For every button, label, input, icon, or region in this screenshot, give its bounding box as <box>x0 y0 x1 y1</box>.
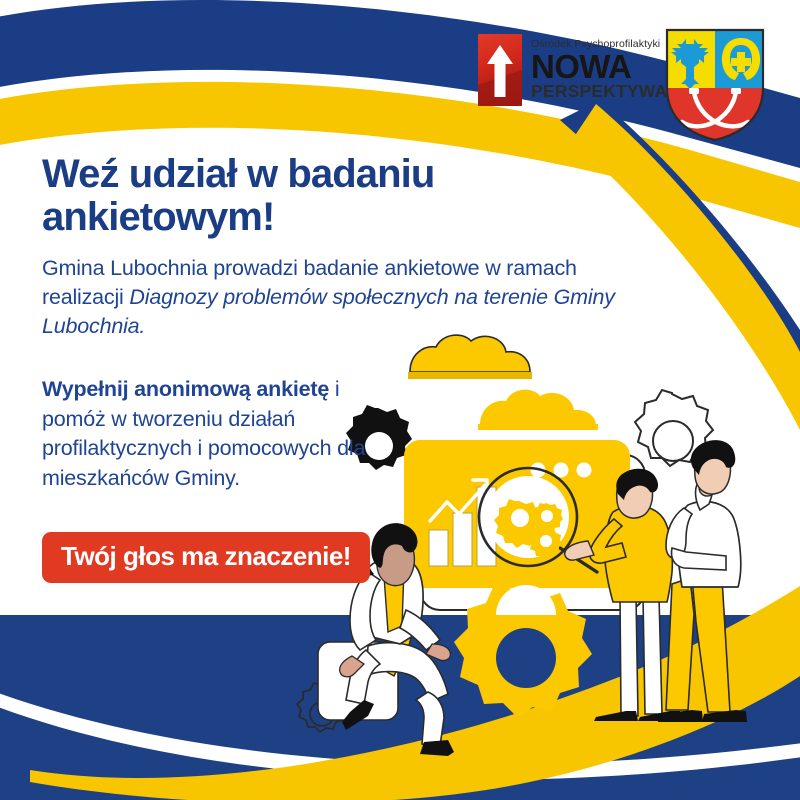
leg-left <box>666 578 694 710</box>
leg-right <box>692 578 730 712</box>
shoe-left <box>594 711 638 721</box>
browser-dot <box>577 463 592 478</box>
pants-lower <box>416 692 444 746</box>
shoe-left <box>658 710 703 722</box>
chart-bar <box>453 513 472 566</box>
intro-paragraph: Gmina Lubochnia prowadzi badanie ankieto… <box>42 254 617 342</box>
page-title: Weź udział w badaniu ankietowym! <box>42 153 512 239</box>
leg-right <box>643 596 662 714</box>
shoe-right <box>420 740 454 756</box>
instruction-bold: Wypełnij anonimową ankietę <box>42 377 329 401</box>
chart-bar <box>429 530 448 566</box>
cta-banner[interactable]: Twój głos ma znaczenie! <box>42 532 370 583</box>
instruction-paragraph: Wypełnij anonimową ankietę i pomóż w two… <box>42 375 372 494</box>
cloud-small <box>478 390 598 430</box>
up-arrow-icon <box>485 43 515 99</box>
leg-left <box>620 596 638 716</box>
poster-canvas: Ośrodek Psychoprofilaktyki NOWA PERSPEKT… <box>0 0 800 800</box>
